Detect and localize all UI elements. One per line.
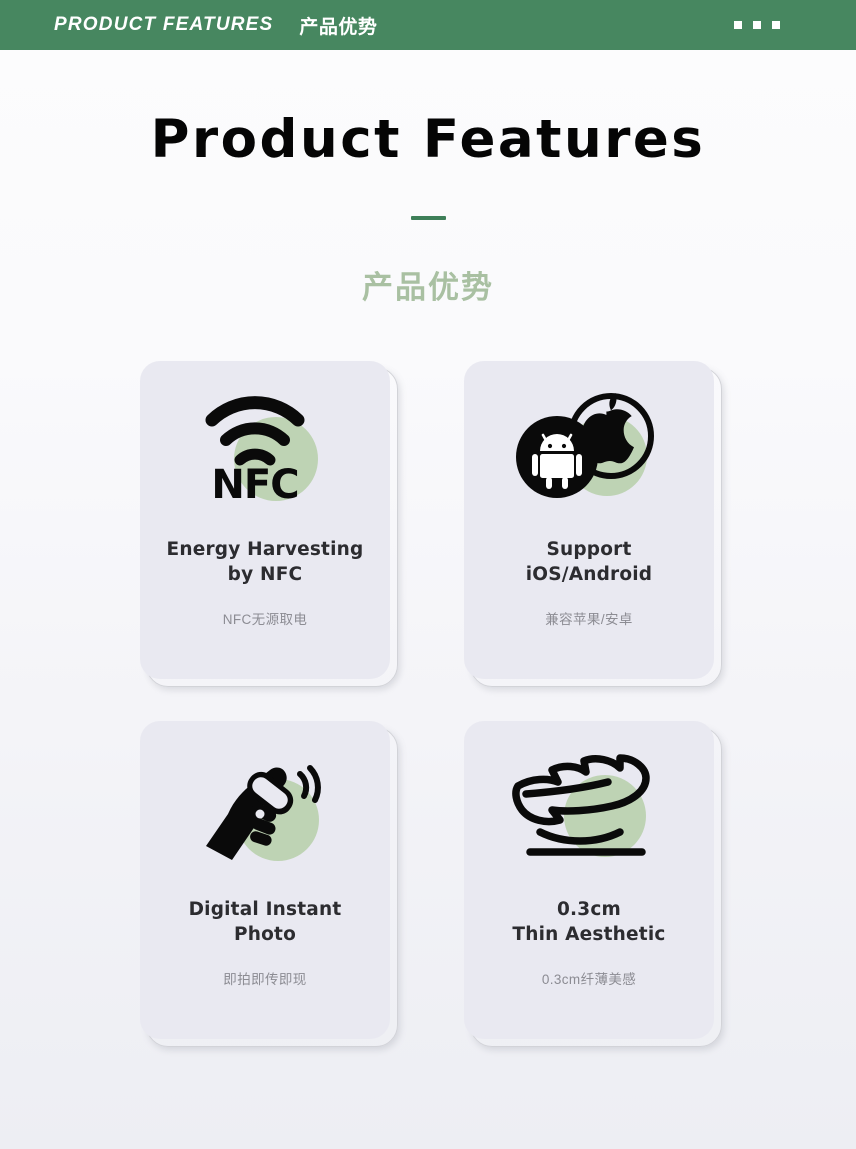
nfc-icon: NFC — [140, 361, 390, 537]
card-subtitle: 即拍即传即现 — [223, 968, 306, 988]
feature-card-nfc[interactable]: NFC Energy Harvesting by NFC NFC无源取电 — [140, 361, 392, 681]
card-title-line1: Energy Harvesting — [167, 537, 364, 563]
three-dots-menu-icon[interactable] — [734, 21, 834, 29]
card-body: Digital Instant Photo 即拍即传即现 — [140, 721, 390, 1039]
card-title-line1: Support — [526, 537, 653, 563]
feature-card-grid: NFC Energy Harvesting by NFC NFC无源取电 — [140, 361, 716, 1041]
hand-phone-nfc-icon — [140, 721, 390, 897]
svg-text:NFC: NFC — [211, 462, 298, 508]
card-subtitle: NFC无源取电 — [223, 608, 308, 628]
menu-dot — [753, 21, 761, 29]
card-body: 0.3cm Thin Aesthetic 0.3cm纤薄美感 — [464, 721, 714, 1039]
card-body: Support iOS/Android 兼容苹果/安卓 — [464, 361, 714, 679]
ios-android-icon — [464, 361, 714, 537]
feature-card-ios-android[interactable]: Support iOS/Android 兼容苹果/安卓 — [464, 361, 716, 681]
card-body: NFC Energy Harvesting by NFC NFC无源取电 — [140, 361, 390, 679]
feather-icon — [464, 721, 714, 897]
card-subtitle: 0.3cm纤薄美感 — [542, 968, 636, 988]
topbar-title-cn: 产品优势 — [299, 12, 377, 39]
card-title: Energy Harvesting by NFC — [157, 537, 374, 588]
menu-dot — [734, 21, 742, 29]
card-title-line2: by NFC — [167, 562, 364, 588]
title-divider — [411, 216, 446, 220]
card-subtitle: 兼容苹果/安卓 — [545, 608, 633, 628]
feature-card-thin-aesthetic[interactable]: 0.3cm Thin Aesthetic 0.3cm纤薄美感 — [464, 721, 716, 1041]
top-bar: PRODUCT FEATURES 产品优势 — [0, 0, 856, 50]
card-title-line2: Photo — [189, 922, 342, 948]
card-title: Digital Instant Photo — [179, 897, 352, 948]
menu-dot — [772, 21, 780, 29]
card-title-line1: 0.3cm — [512, 897, 665, 923]
card-title-line2: Thin Aesthetic — [512, 922, 665, 948]
page-heading: Product Features 产品优势 — [0, 50, 856, 307]
page-subtitle: 产品优势 — [0, 262, 856, 307]
card-title: 0.3cm Thin Aesthetic — [502, 897, 675, 948]
page-title: Product Features — [0, 112, 856, 168]
topbar-title-en: PRODUCT FEATURES — [54, 14, 273, 36]
card-title: Support iOS/Android — [516, 537, 663, 588]
card-title-line1: Digital Instant — [189, 897, 342, 923]
feature-card-instant-photo[interactable]: Digital Instant Photo 即拍即传即现 — [140, 721, 392, 1041]
card-title-line2: iOS/Android — [526, 562, 653, 588]
